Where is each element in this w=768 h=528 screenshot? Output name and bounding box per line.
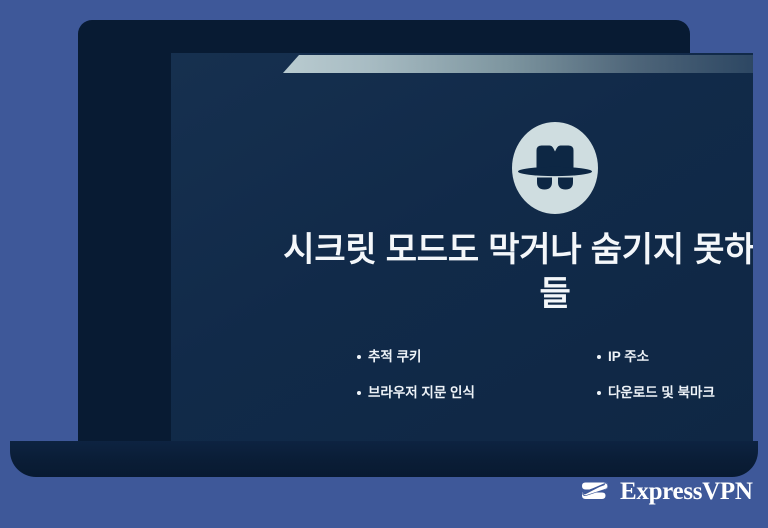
slide-headline: 시크릿 모드도 막거나 숨기지 못하는 것들 <box>279 229 753 316</box>
list-item-label: 브라우저 지문 인식 <box>368 385 475 401</box>
list-item-label: IP 주소 <box>608 349 649 365</box>
bullet-dot-icon <box>597 355 601 359</box>
list-item: 다운로드 및 북마크 <box>597 385 753 401</box>
slide-canvas: 시크릿 모드도 막거나 숨기지 못하는 것들 추적 쿠키 브라우저 지문 인식 <box>0 0 768 528</box>
incognito-spy-icon <box>512 122 598 214</box>
bullet-dot-icon <box>357 355 361 359</box>
laptop-base <box>10 441 758 477</box>
expressvpn-wordmark: ExpressVPN <box>620 479 753 504</box>
browser-tab-bar <box>283 55 753 73</box>
list-item: 브라우저 지문 인식 <box>357 385 537 401</box>
list-item: IP 주소 <box>597 349 753 365</box>
list-item-label: 다운로드 및 북마크 <box>608 385 715 401</box>
laptop-screen-bezel: 시크릿 모드도 막거나 숨기지 못하는 것들 추적 쿠키 브라우저 지문 인식 <box>78 20 690 441</box>
feature-bullet-lists: 추적 쿠키 브라우저 지문 인식 IP 주소 다운로드 및 북마크 <box>357 349 753 401</box>
list-item-label: 추적 쿠키 <box>368 349 421 365</box>
bullet-dot-icon <box>597 391 601 395</box>
bullet-column-left: 추적 쿠키 브라우저 지문 인식 <box>357 349 537 401</box>
bullet-column-right: IP 주소 다운로드 및 북마크 <box>597 349 753 401</box>
expressvpn-logo-mark <box>578 474 612 508</box>
bullet-dot-icon <box>357 391 361 395</box>
expressvpn-logo: ExpressVPN <box>578 474 753 508</box>
laptop-screen-display: 시크릿 모드도 막거나 숨기지 못하는 것들 추적 쿠키 브라우저 지문 인식 <box>171 53 753 444</box>
list-item: 추적 쿠키 <box>357 349 537 365</box>
